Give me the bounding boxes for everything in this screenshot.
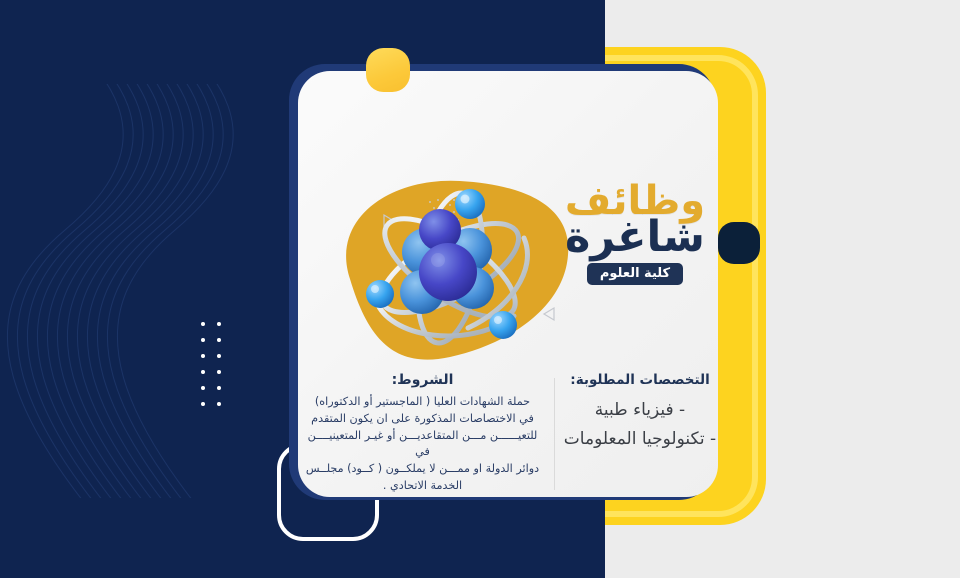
- specializations-column: التخصصات المطلوبة: - فيزياء طبية - تكنول…: [560, 372, 720, 459]
- atom-illustration: [318, 160, 588, 370]
- title-line-2: شاغرة: [560, 216, 710, 259]
- college-badge: كلية العلوم: [587, 263, 683, 285]
- dot: [201, 338, 205, 342]
- specialization-item: - تكنولوجيا المعلومات: [560, 429, 720, 450]
- dot: [201, 370, 205, 374]
- conditions-column: الشروط: حملة الشهادات العليا ( الماجستير…: [300, 372, 545, 495]
- poster-canvas: وظائف شاغرة كلية العلوم التخصصات المطلوب…: [0, 0, 960, 578]
- dot: [217, 402, 221, 406]
- conditions-line: في الاختصاصات المذكورة على ان يكون المتق…: [300, 411, 545, 428]
- conditions-line: للتعيــــــن مـــن المتقاعديـــن أو غيـر…: [300, 428, 545, 462]
- dot: [217, 386, 221, 390]
- conditions-heading: الشروط:: [300, 372, 545, 388]
- dot: [201, 386, 205, 390]
- dot-grid-left: [189, 322, 221, 418]
- conditions-line: حملة الشهادات العليا ( الماجستير أو الدك…: [300, 394, 545, 411]
- conditions-line: الخدمة الاتحادي .: [300, 478, 545, 495]
- dot: [217, 370, 221, 374]
- column-divider: [554, 378, 555, 490]
- dot: [201, 402, 205, 406]
- title-block: وظائف شاغرة كلية العلوم: [560, 182, 710, 285]
- yellow-blob: [366, 48, 410, 92]
- dot: [217, 338, 221, 342]
- conditions-line: دوائر الدولة او ممـــن لا يملكــون ( كــ…: [300, 461, 545, 478]
- dot: [201, 354, 205, 358]
- dot: [217, 322, 221, 326]
- dot: [217, 354, 221, 358]
- dot: [201, 322, 205, 326]
- navy-blob: [718, 222, 760, 264]
- specialization-item: - فيزياء طبية: [560, 400, 720, 421]
- specializations-heading: التخصصات المطلوبة:: [560, 372, 720, 388]
